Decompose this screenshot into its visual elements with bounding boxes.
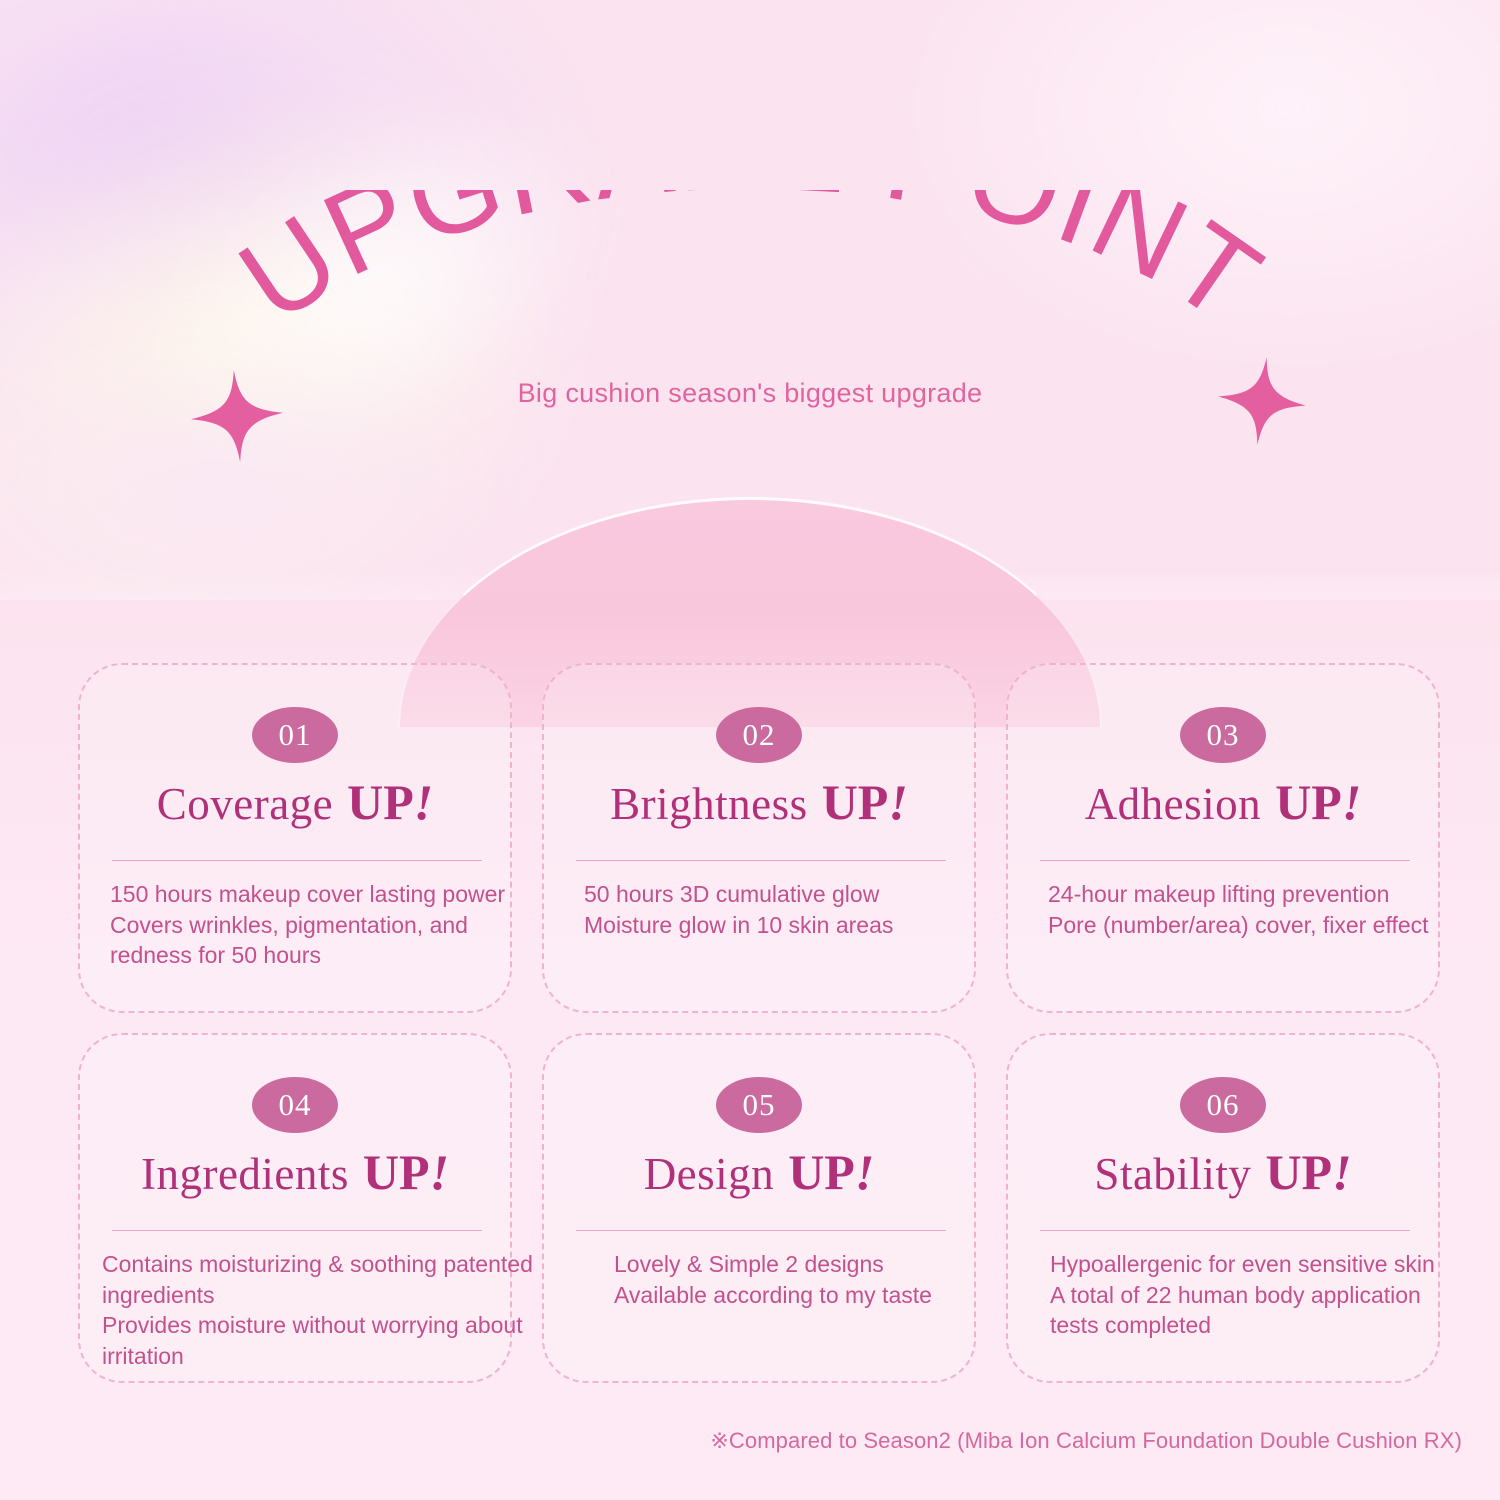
card-number-badge: 04 bbox=[252, 1077, 338, 1133]
card-body-text: Lovely & Simple 2 designs Available acco… bbox=[614, 1249, 1034, 1310]
header-section: UPGRADE POINT Big cushion season's bigge… bbox=[0, 0, 1500, 470]
card-title: StabilityUP! bbox=[1008, 1143, 1438, 1201]
upgrade-card-05[interactable]: 05 DesignUP! Lovely & Simple 2 designs A… bbox=[542, 1033, 976, 1383]
card-divider bbox=[1040, 1230, 1410, 1231]
upgrade-card-02[interactable]: 02 BrightnessUP! 50 hours 3D cumulative … bbox=[542, 663, 976, 1013]
upgrade-points-grid: 01 CoverageUP! 150 hours makeup cover la… bbox=[78, 663, 1440, 1383]
card-title-up: UP! bbox=[788, 1144, 874, 1200]
card-number-badge: 01 bbox=[252, 707, 338, 763]
upgrade-card-03[interactable]: 03 AdhesionUP! 24-hour makeup lifting pr… bbox=[1006, 663, 1440, 1013]
card-divider bbox=[112, 1230, 482, 1231]
card-number-badge: 06 bbox=[1180, 1077, 1266, 1133]
card-title: AdhesionUP! bbox=[1008, 773, 1438, 831]
card-title-up: UP! bbox=[347, 774, 433, 830]
card-title-word: Design bbox=[644, 1149, 775, 1199]
card-body-text: Hypoallergenic for even sensitive skin A… bbox=[1050, 1249, 1480, 1341]
card-title: IngredientsUP! bbox=[80, 1143, 510, 1201]
card-title-word: Ingredients bbox=[141, 1149, 349, 1199]
card-number-label: 03 bbox=[1207, 719, 1240, 752]
promo-canvas: UPGRADE POINT Big cushion season's bigge… bbox=[0, 0, 1500, 1500]
card-number-label: 02 bbox=[743, 719, 776, 752]
page-title: UPGRADE POINT bbox=[180, 190, 1320, 410]
card-title-up: UP! bbox=[1275, 774, 1361, 830]
page-title-text: UPGRADE POINT bbox=[217, 190, 1284, 348]
card-title-up: UP! bbox=[822, 774, 908, 830]
upgrade-card-01[interactable]: 01 CoverageUP! 150 hours makeup cover la… bbox=[78, 663, 512, 1013]
card-body-text: 150 hours makeup cover lasting power Cov… bbox=[110, 879, 530, 971]
card-number-badge: 02 bbox=[716, 707, 802, 763]
card-title: DesignUP! bbox=[544, 1143, 974, 1201]
card-divider bbox=[112, 860, 482, 861]
card-title: CoverageUP! bbox=[80, 773, 510, 831]
card-title-up: UP! bbox=[363, 1144, 449, 1200]
card-body-text: 24-hour makeup lifting prevention Pore (… bbox=[1048, 879, 1468, 940]
card-title-word: Adhesion bbox=[1085, 779, 1262, 829]
card-number-label: 01 bbox=[279, 719, 312, 752]
card-divider bbox=[1040, 860, 1410, 861]
card-title-word: Stability bbox=[1094, 1149, 1251, 1199]
card-title: BrightnessUP! bbox=[544, 773, 974, 831]
card-divider bbox=[576, 1230, 946, 1231]
footnote: ※Compared to Season2 (Miba Ion Calcium F… bbox=[0, 1428, 1462, 1454]
card-title-up: UP! bbox=[1265, 1144, 1351, 1200]
upgrade-card-06[interactable]: 06 StabilityUP! Hypoallergenic for even … bbox=[1006, 1033, 1440, 1383]
page-subtitle: Big cushion season's biggest upgrade bbox=[0, 378, 1500, 409]
card-title-word: Brightness bbox=[610, 779, 808, 829]
card-title-word: Coverage bbox=[157, 779, 333, 829]
card-number-label: 04 bbox=[279, 1089, 312, 1122]
card-number-badge: 03 bbox=[1180, 707, 1266, 763]
card-number-badge: 05 bbox=[716, 1077, 802, 1133]
card-body-text: 50 hours 3D cumulative glow Moisture glo… bbox=[584, 879, 1004, 940]
card-number-label: 05 bbox=[743, 1089, 776, 1122]
card-body-text: Contains moisturizing & soothing patente… bbox=[102, 1249, 547, 1371]
upgrade-card-04[interactable]: 04 IngredientsUP! Contains moisturizing … bbox=[78, 1033, 512, 1383]
card-divider bbox=[576, 860, 946, 861]
card-number-label: 06 bbox=[1207, 1089, 1240, 1122]
